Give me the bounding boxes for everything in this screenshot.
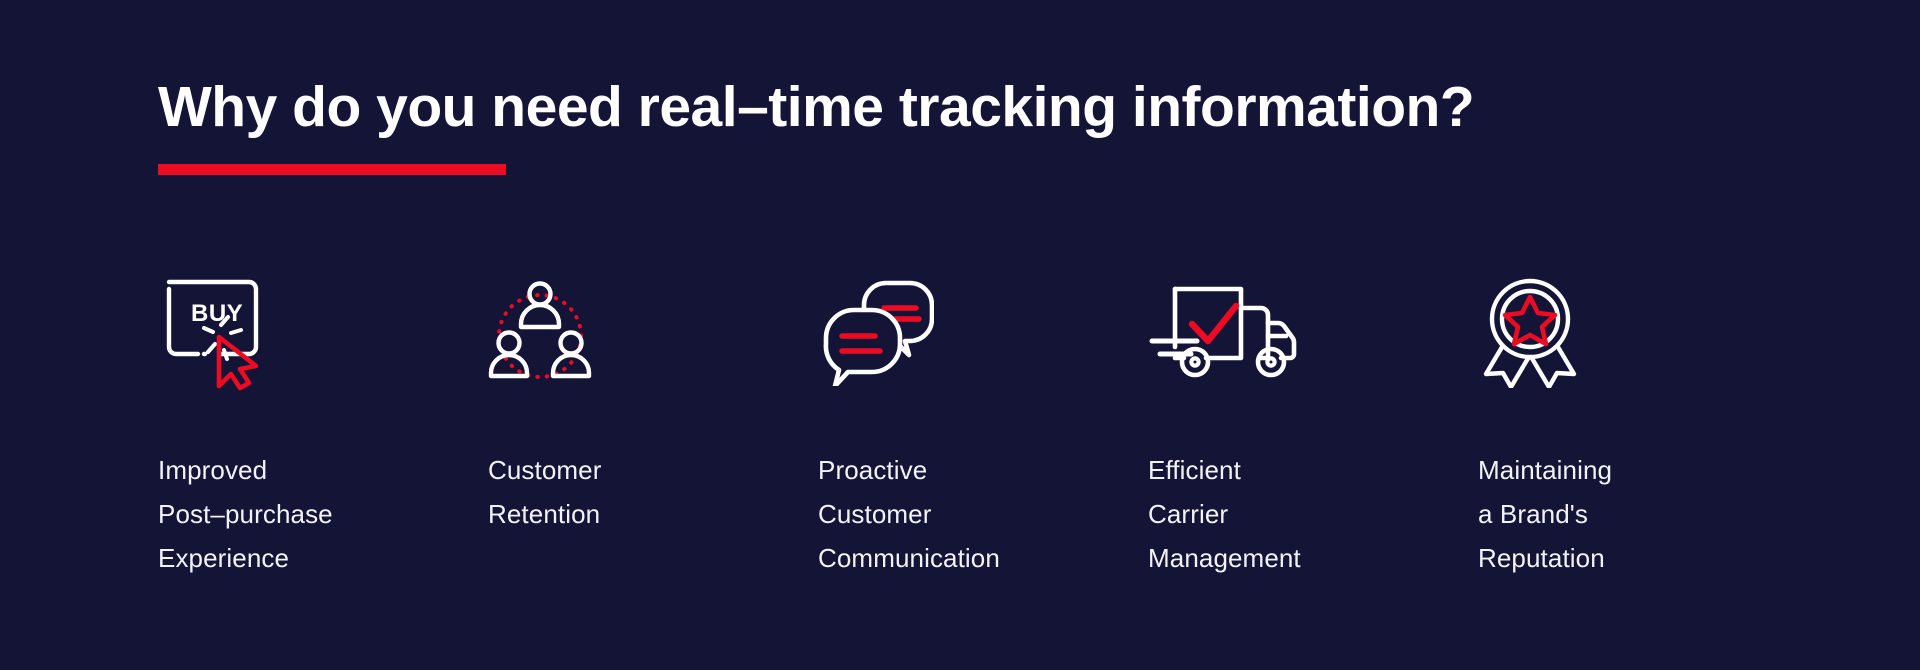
award-badge-star-icon bbox=[1478, 272, 1582, 392]
title-underline-rule bbox=[158, 164, 506, 175]
benefit-label: Proactive Customer Communication bbox=[818, 448, 1000, 580]
benefit-column-proactive-customer-communication: Proactive Customer Communication bbox=[818, 272, 1148, 580]
benefit-label: Efficient Carrier Management bbox=[1148, 448, 1301, 580]
benefit-column-customer-retention: Customer Retention bbox=[488, 272, 818, 536]
delivery-truck-check-icon bbox=[1148, 272, 1300, 392]
customer-network-icon bbox=[488, 272, 592, 392]
page-title: Why do you need real–time tracking infor… bbox=[158, 74, 1858, 140]
benefit-label: Improved Post–purchase Experience bbox=[158, 448, 333, 580]
slide-root: Why do you need real–time tracking infor… bbox=[0, 0, 1920, 670]
benefit-column-maintaining-brand-reputation: Maintaining a Brand's Reputation bbox=[1478, 272, 1808, 580]
benefit-column-improved-post-purchase-experience: BUY Improved Post–purchase Experience bbox=[158, 272, 488, 580]
benefit-column-efficient-carrier-management: Efficient Carrier Management bbox=[1148, 272, 1478, 580]
benefit-label: Maintaining a Brand's Reputation bbox=[1478, 448, 1612, 580]
benefit-label: Customer Retention bbox=[488, 448, 602, 536]
heading-block: Why do you need real–time tracking infor… bbox=[158, 74, 1858, 175]
speech-bubbles-icon bbox=[818, 272, 934, 392]
svg-text:BUY: BUY bbox=[191, 300, 243, 327]
benefits-columns: BUY Improved Post–purchase Experience bbox=[158, 272, 1798, 580]
buy-click-icon: BUY bbox=[158, 272, 270, 392]
